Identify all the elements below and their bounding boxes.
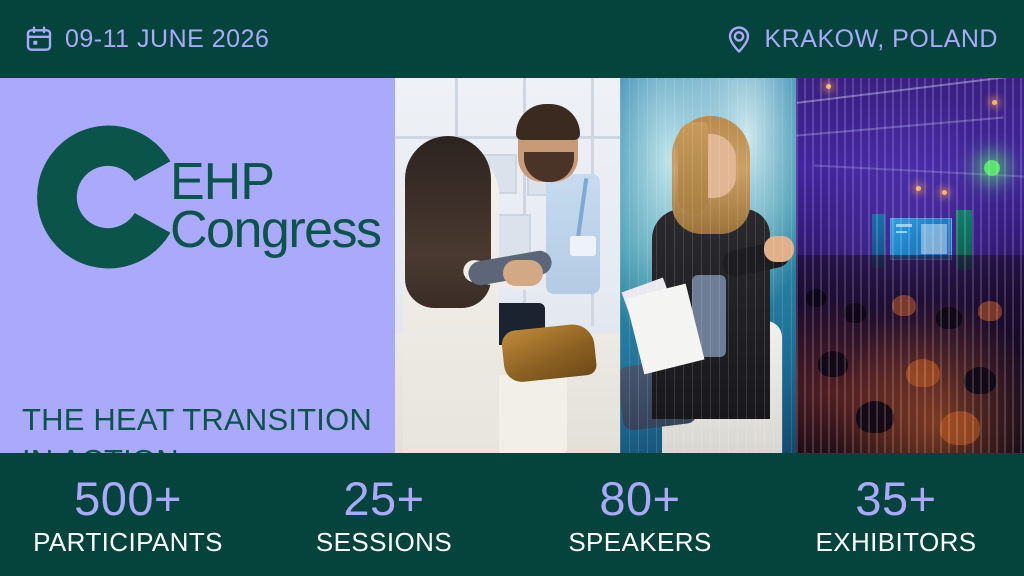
event-date-block: 09-11 JUNE 2026 <box>24 24 269 54</box>
map-pin-icon <box>724 24 754 54</box>
handshake <box>503 260 543 286</box>
stat-label: SPEAKERS <box>512 529 768 555</box>
photo2-stripe-overlay <box>620 78 796 453</box>
window-rail <box>395 136 620 139</box>
stat-label: EXHIBITORS <box>768 529 1024 555</box>
panel-speaker-photo <box>620 78 796 453</box>
stat-speakers: 80+ SPEAKERS <box>512 475 768 555</box>
event-location-text: KRAKOW, POLAND <box>765 25 998 54</box>
event-location-block: KRAKOW, POLAND <box>724 24 998 54</box>
name-badge <box>570 236 596 256</box>
letter-c-mark-icon <box>26 116 178 278</box>
logo-name-line1: EHP <box>170 158 381 206</box>
banner-header: 09-11 JUNE 2026 KRAKOW, POLAND <box>0 0 1024 78</box>
man-shirt <box>546 174 600 294</box>
auditorium-crowd-photo <box>796 78 1024 453</box>
stat-value: 500+ <box>0 475 256 522</box>
brand-panel: EHP Congress THE HEAT TRANSITION IN ACTI… <box>0 78 395 453</box>
photo3-stripe-overlay <box>796 78 1024 453</box>
calendar-icon <box>24 24 54 54</box>
stat-value: 35+ <box>768 475 1024 522</box>
event-promo-banner: 09-11 JUNE 2026 KRAKOW, POLAND EHP Congr… <box>0 0 1024 576</box>
tagline-line1: THE HEAT TRANSITION <box>22 400 372 441</box>
networking-handshake-photo <box>395 78 620 453</box>
stat-label: SESSIONS <box>256 529 512 555</box>
congress-logo: EHP Congress <box>26 116 381 278</box>
stat-participants: 500+ PARTICIPANTS <box>0 475 256 555</box>
event-date-text: 09-11 JUNE 2026 <box>65 25 269 54</box>
stat-value: 80+ <box>512 475 768 522</box>
logo-name-line2: Congress <box>170 206 381 254</box>
stat-sessions: 25+ SESSIONS <box>256 475 512 555</box>
logo-wordmark: EHP Congress <box>170 158 381 255</box>
banner-middle-band: EHP Congress THE HEAT TRANSITION IN ACTI… <box>0 78 1024 453</box>
stat-label: PARTICIPANTS <box>0 529 256 555</box>
event-stats-bar: 500+ PARTICIPANTS 25+ SESSIONS 80+ SPEAK… <box>0 453 1024 576</box>
stat-value: 25+ <box>256 475 512 522</box>
stat-exhibitors: 35+ EXHIBITORS <box>768 475 1024 555</box>
photo-strip <box>395 78 1024 453</box>
